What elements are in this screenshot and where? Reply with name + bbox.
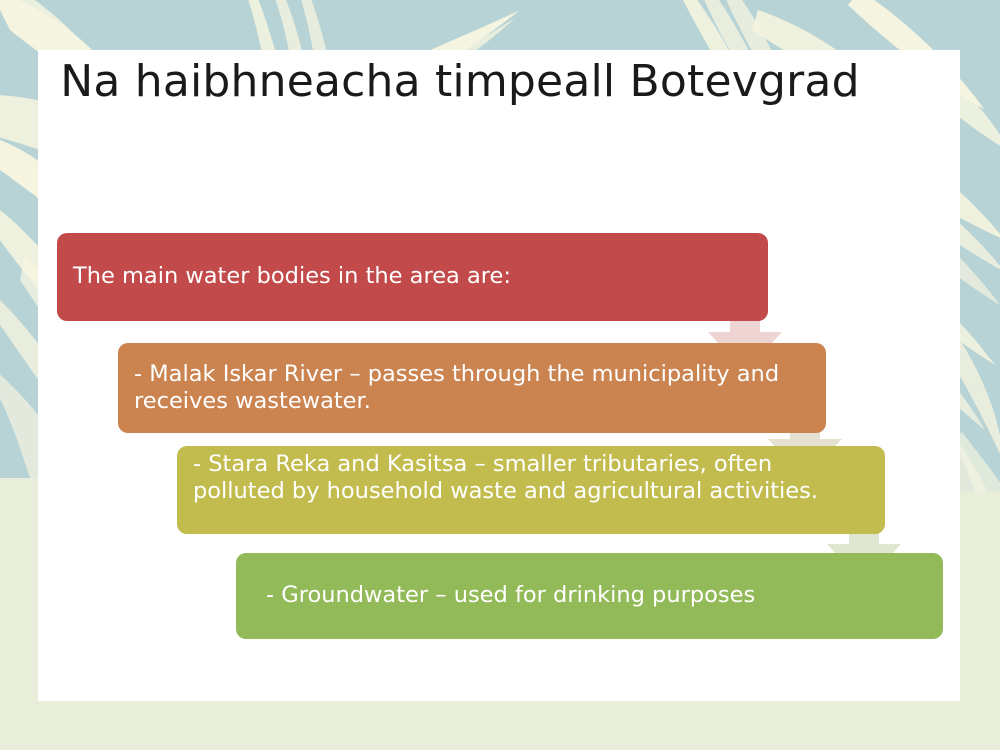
flow-box-groundwater-label: - Groundwater – used for drinking purpos… bbox=[252, 582, 925, 609]
flow-box-malak-iskar-label: - Malak Iskar River – passes through the… bbox=[134, 361, 808, 416]
flow-box-stara-reka-label: - Stara Reka and Kasitsa – smaller tribu… bbox=[193, 451, 867, 506]
flow-box-groundwater[interactable]: - Groundwater – used for drinking purpos… bbox=[236, 553, 943, 639]
flow-box-intro[interactable]: The main water bodies in the area are: bbox=[57, 233, 768, 321]
flow-box-intro-label: The main water bodies in the area are: bbox=[73, 263, 750, 290]
slide-title: Na haibhneacha timpeall Botevgrad bbox=[60, 58, 860, 106]
flow-box-stara-reka[interactable]: - Stara Reka and Kasitsa – smaller tribu… bbox=[177, 446, 885, 534]
slide: Na haibhneacha timpeall Botevgrad The ma… bbox=[0, 0, 1000, 750]
flow-box-malak-iskar[interactable]: - Malak Iskar River – passes through the… bbox=[118, 343, 826, 433]
